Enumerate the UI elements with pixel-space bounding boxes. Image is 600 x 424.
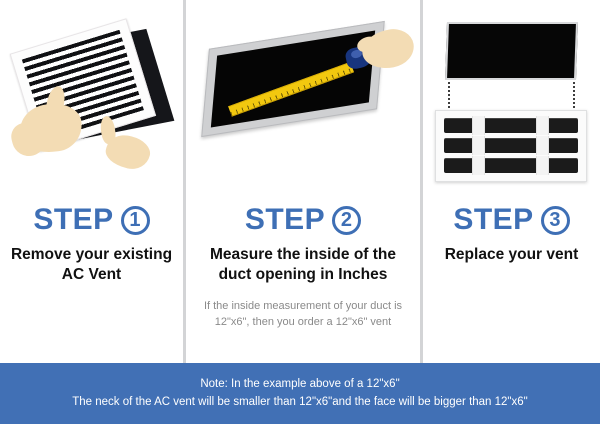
step-2-title: Measure the inside of the duct opening i… — [186, 245, 420, 285]
louver-spacer — [536, 116, 549, 135]
step-2-illustration — [186, 0, 420, 205]
louver-spacer — [472, 116, 485, 135]
infographic-page: STEP 1 Remove your existing AC Vent STEP… — [0, 0, 600, 424]
step-2-word: STEP — [245, 205, 325, 235]
panel-divider-right — [420, 0, 423, 363]
step-panel-1: STEP 1 Remove your existing AC Vent — [0, 0, 183, 363]
louver-row — [444, 138, 578, 153]
step-1-word: STEP — [33, 205, 113, 235]
step-1-heading: STEP 1 — [0, 205, 183, 235]
step-3-heading: STEP 3 — [423, 205, 600, 235]
replacement-vent-shape — [435, 110, 587, 182]
step-panel-3: STEP 3 Replace your vent — [423, 0, 600, 363]
step-1-title: Remove your existing AC Vent — [0, 245, 183, 285]
step-1-illustration — [0, 0, 183, 205]
step-1-number-badge: 1 — [121, 206, 150, 235]
louver-row — [444, 158, 578, 173]
alignment-guide-left-icon — [448, 82, 450, 108]
step-panel-2: STEP 2 Measure the inside of the duct op… — [186, 0, 420, 363]
louver-spacer — [536, 156, 549, 175]
louver-spacer — [472, 156, 485, 175]
louver-row — [444, 118, 578, 133]
step-2-number-badge: 2 — [332, 206, 361, 235]
note-line-1: Note: In the example above of a 12"x6" — [200, 376, 399, 394]
step-3-title: Replace your vent — [423, 245, 600, 265]
note-banner: Note: In the example above of a 12"x6" T… — [0, 363, 600, 424]
step-3-illustration — [423, 0, 600, 205]
step-3-number-badge: 3 — [541, 206, 570, 235]
louver-spacer — [472, 136, 485, 155]
louver-spacer — [536, 136, 549, 155]
duct-opening-top-shape — [445, 22, 578, 80]
duct-frame-shape — [201, 21, 385, 137]
alignment-guide-right-icon — [573, 82, 575, 108]
step-2-subtext: If the inside measurement of your duct i… — [186, 299, 420, 331]
step-2-heading: STEP 2 — [186, 205, 420, 235]
panel-divider-left — [183, 0, 186, 363]
note-line-2: The neck of the AC vent will be smaller … — [72, 394, 528, 412]
step-3-word: STEP — [453, 205, 533, 235]
